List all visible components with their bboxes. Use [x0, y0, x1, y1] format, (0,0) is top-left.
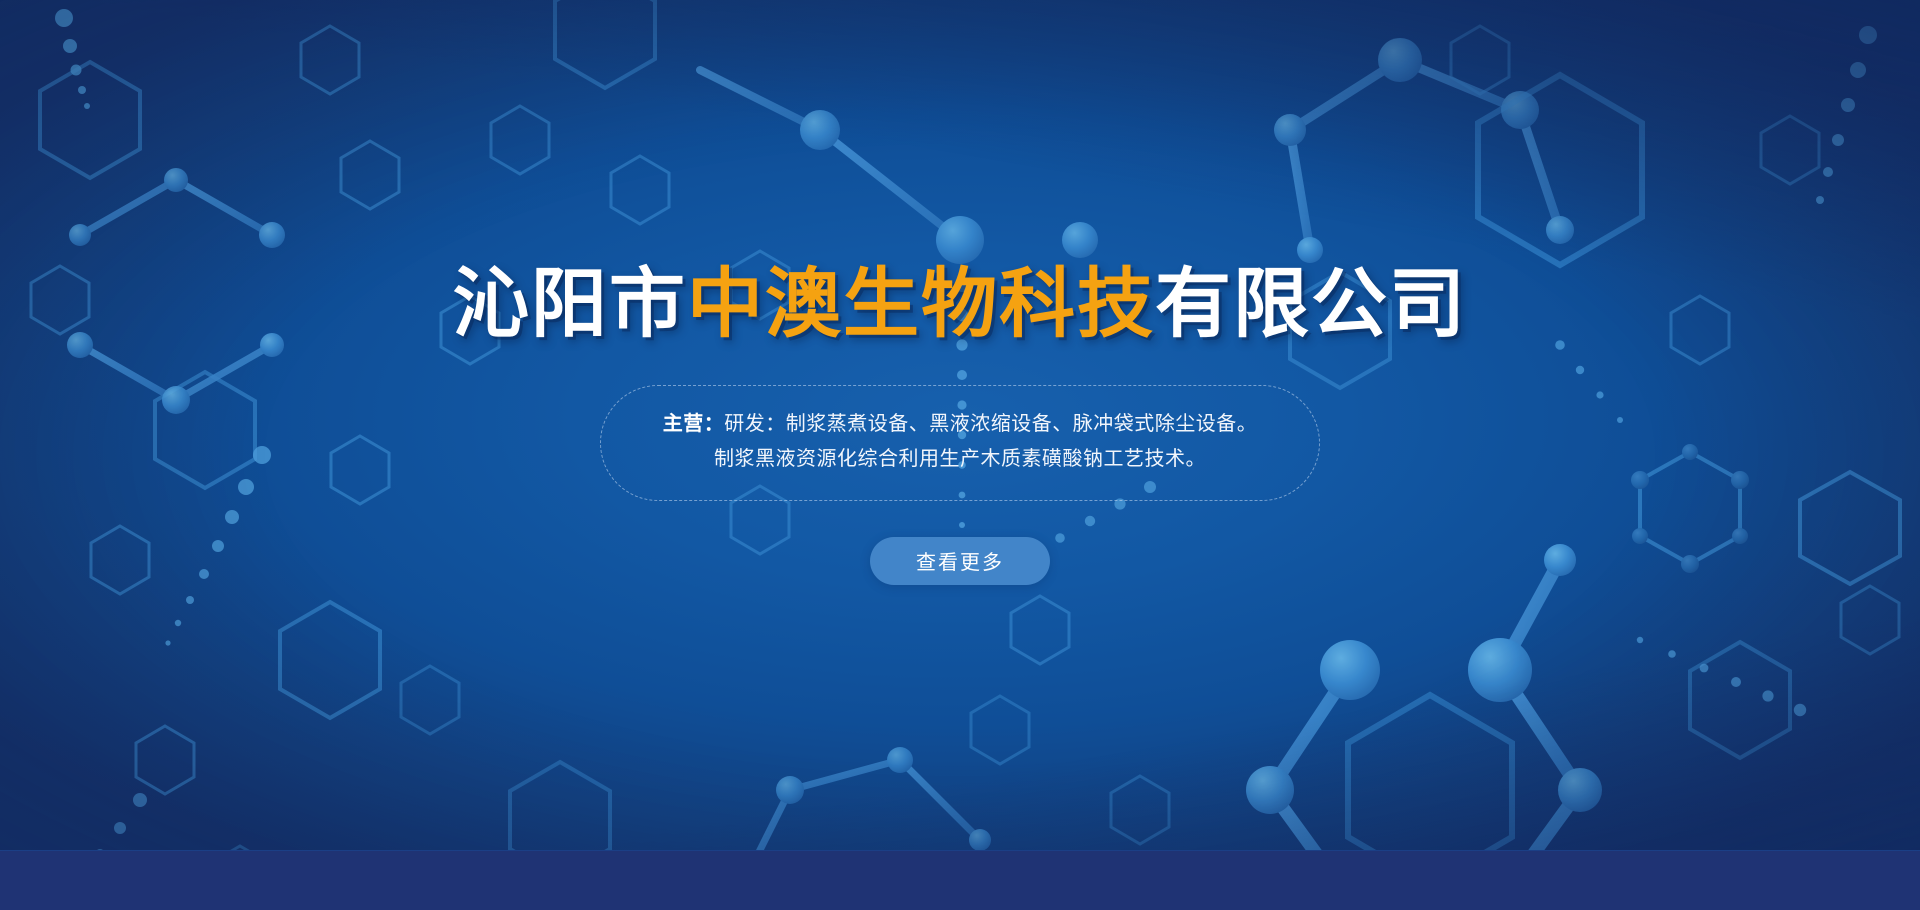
- title-suffix: 有限公司: [1155, 262, 1467, 347]
- tagline-box: 主营：研发：制浆蒸煮设备、黑液浓缩设备、脉冲袋式除尘设备。 制浆黑液资源化综合利…: [600, 385, 1321, 501]
- tagline-label: 主营：: [663, 413, 725, 435]
- tagline-line-1-text: 研发：制浆蒸煮设备、黑液浓缩设备、脉冲袋式除尘设备。: [724, 413, 1257, 435]
- bottom-strip: [0, 850, 1920, 910]
- view-more-button[interactable]: 查看更多: [870, 537, 1050, 585]
- title-accent: 中澳生物科技: [687, 262, 1155, 347]
- hero-content: 沁阳市中澳生物科技有限公司 主营：研发：制浆蒸煮设备、黑液浓缩设备、脉冲袋式除尘…: [0, 0, 1920, 851]
- tagline-line-2: 制浆黑液资源化综合利用生产木质素磺酸钠工艺技术。: [663, 442, 1258, 477]
- tagline-line-1: 主营：研发：制浆蒸煮设备、黑液浓缩设备、脉冲袋式除尘设备。: [663, 407, 1258, 442]
- title-prefix: 沁阳市: [453, 262, 687, 347]
- page-title: 沁阳市中澳生物科技有限公司: [453, 267, 1467, 343]
- hero-banner: 沁阳市中澳生物科技有限公司 主营：研发：制浆蒸煮设备、黑液浓缩设备、脉冲袋式除尘…: [0, 0, 1920, 910]
